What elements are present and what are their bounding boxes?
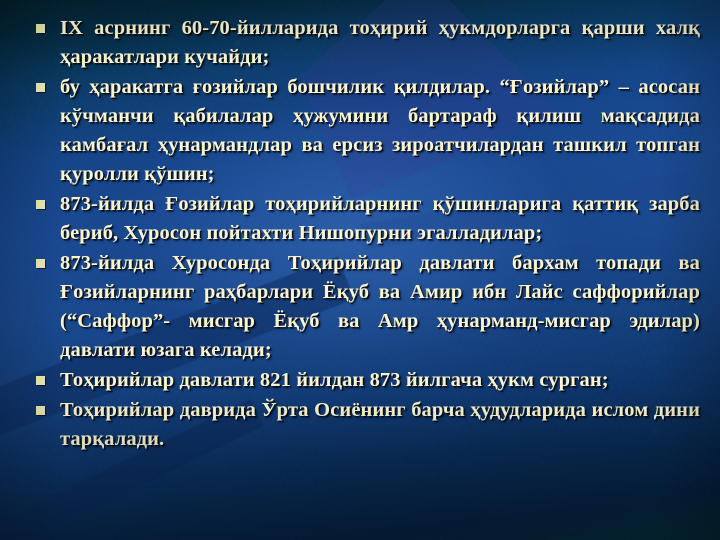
square-bullet-icon — [36, 259, 45, 268]
bullet-text: 873-йилда Хуросонда Тоҳирийлар давлати б… — [60, 249, 700, 365]
bullet-text: бу ҳаракатга ғозийлар бошчилик қилдилар.… — [60, 73, 700, 189]
bullet-text: 873-йилда Ғозийлар тоҳирийларнинг қўшинл… — [60, 190, 700, 248]
list-item: Тоҳирийлар даврида Ўрта Осиёнинг барча ҳ… — [36, 396, 700, 454]
presentation-slide: IX асрнинг 60-70-йилларида тоҳирий ҳукмд… — [0, 0, 720, 540]
list-item: 873-йилда Ғозийлар тоҳирийларнинг қўшинл… — [36, 190, 700, 248]
square-bullet-icon — [36, 376, 45, 385]
square-bullet-icon — [36, 24, 45, 33]
list-item: бу ҳаракатга ғозийлар бошчилик қилдилар.… — [36, 73, 700, 189]
bullet-text: Тоҳирийлар давлати 821 йилдан 873 йилгач… — [60, 366, 700, 395]
list-item: Тоҳирийлар давлати 821 йилдан 873 йилгач… — [36, 366, 700, 395]
list-item: IX асрнинг 60-70-йилларида тоҳирий ҳукмд… — [36, 14, 700, 72]
square-bullet-icon — [36, 406, 45, 415]
slide-bullet-list: IX асрнинг 60-70-йилларида тоҳирий ҳукмд… — [36, 14, 700, 455]
square-bullet-icon — [36, 83, 45, 92]
square-bullet-icon — [36, 200, 45, 209]
bullet-text: IX асрнинг 60-70-йилларида тоҳирий ҳукмд… — [60, 14, 700, 72]
list-item: 873-йилда Хуросонда Тоҳирийлар давлати б… — [36, 249, 700, 365]
bullet-text: Тоҳирийлар даврида Ўрта Осиёнинг барча ҳ… — [60, 396, 700, 454]
